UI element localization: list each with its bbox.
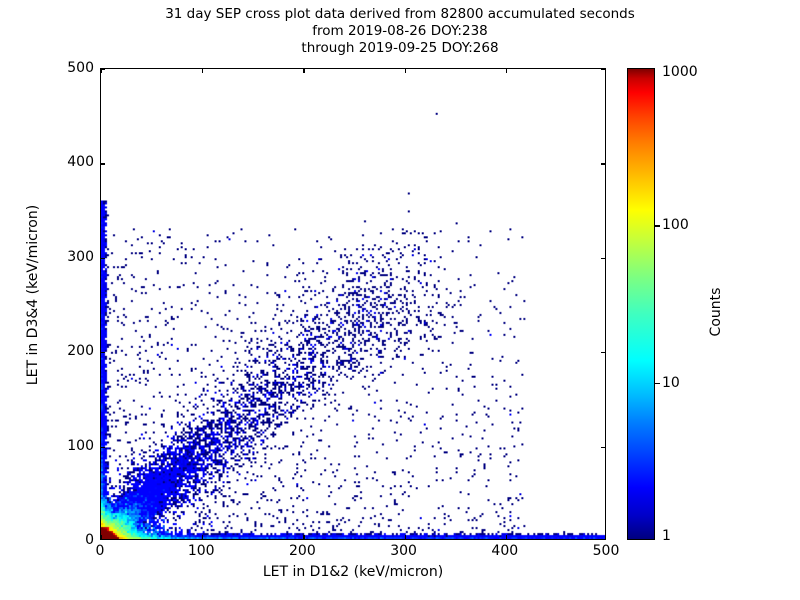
- x-tick-mark: [506, 535, 507, 539]
- colorbar-tick-label: 1: [662, 528, 671, 544]
- y-tick-mark: [101, 258, 105, 259]
- x-tick-mark-top: [405, 69, 406, 73]
- x-tick-label: 500: [593, 543, 620, 559]
- x-tick-mark: [303, 535, 304, 539]
- y-tick-mark-right: [601, 352, 605, 353]
- y-tick-label: 100: [67, 438, 94, 454]
- colorbar-tick-mark: [655, 225, 660, 226]
- x-tick-label: 300: [390, 543, 417, 559]
- x-tick-mark-top: [202, 69, 203, 73]
- x-tick-mark-top: [303, 69, 304, 73]
- y-tick-label: 500: [67, 60, 94, 76]
- colorbar-gradient: [627, 68, 655, 540]
- y-tick-mark-right: [601, 447, 605, 448]
- scatter-plot-area: [101, 69, 605, 539]
- x-tick-mark-top: [506, 69, 507, 73]
- x-tick-mark: [405, 535, 406, 539]
- y-tick-mark-right: [601, 163, 605, 164]
- colorbar-tick-label: 1000: [662, 64, 698, 80]
- x-axis-label: LET in D1&2 (keV/micron): [100, 564, 606, 580]
- y-tick-mark: [101, 447, 105, 448]
- plot-axes: [100, 68, 606, 540]
- y-tick-mark: [101, 163, 105, 164]
- chart-title-line-3: through 2019-09-25 DOY:268: [0, 40, 800, 57]
- y-tick-label: 400: [67, 154, 94, 170]
- x-tick-label: 200: [289, 543, 316, 559]
- x-tick-label: 400: [491, 543, 518, 559]
- y-tick-mark: [101, 352, 105, 353]
- y-tick-mark-right: [601, 69, 605, 70]
- x-tick-label: 100: [188, 543, 215, 559]
- colorbar-label: Counts: [708, 232, 724, 392]
- colorbar-tick-mark: [655, 383, 660, 384]
- chart-title-line-2: from 2019-08-26 DOY:238: [0, 23, 800, 40]
- colorbar-tick-label: 10: [662, 375, 680, 391]
- x-tick-label: 0: [96, 543, 105, 559]
- y-tick-mark-right: [601, 258, 605, 259]
- y-tick-mark: [101, 69, 105, 70]
- chart-title-line-1: 31 day SEP cross plot data derived from …: [0, 6, 800, 23]
- y-tick-label: 0: [85, 532, 94, 548]
- x-tick-mark: [101, 535, 102, 539]
- y-tick-label: 300: [67, 249, 94, 265]
- chart-title: 31 day SEP cross plot data derived from …: [0, 6, 800, 57]
- figure-canvas: 31 day SEP cross plot data derived from …: [0, 0, 800, 600]
- colorbar-tick-label: 100: [662, 217, 689, 233]
- x-tick-mark: [202, 535, 203, 539]
- y-tick-label: 200: [67, 343, 94, 359]
- y-axis-label: LET in D3&4 (keV/micron): [25, 200, 41, 390]
